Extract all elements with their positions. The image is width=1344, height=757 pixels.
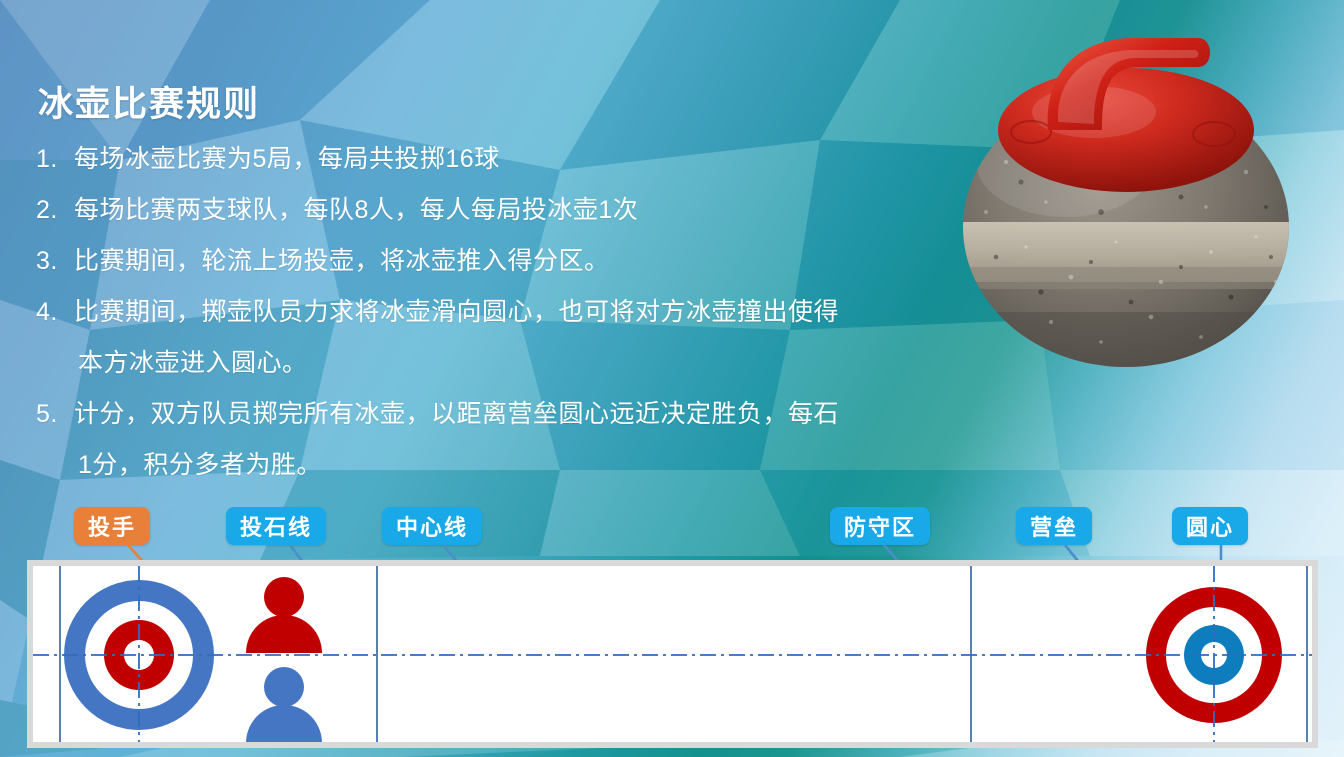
list-item-number: 1. (36, 134, 74, 185)
slide-root: 冰壶比赛规则 1. 每场冰壶比赛为5局，每局共投掷16球 2. 每场比赛两支球队… (0, 0, 1344, 757)
list-item: 3. 比赛期间，轮流上场投壶，将冰壶推入得分区。 (36, 236, 996, 287)
list-item: 4. 比赛期间，掷壶队员力求将冰壶滑向圆心，也可将对方冰壶撞出使得 本方冰壶进入… (36, 287, 996, 389)
list-item-number: 4. (36, 287, 74, 338)
callout-badge-freeguardzone[interactable]: 防守区 (830, 507, 930, 545)
list-item-text: 计分，双方队员掷完所有冰壶，以距离营垒圆心远近决定胜负，每石 1分，积分多者为胜… (74, 389, 996, 491)
curling-stone-image (926, 12, 1326, 382)
list-item-number: 2. (36, 185, 74, 236)
sheet-vertical-lines (60, 566, 1307, 742)
list-item: 5. 计分，双方队员掷完所有冰壶，以距离营垒圆心远近决定胜负，每石 1分，积分多… (36, 389, 996, 491)
list-item: 2. 每场比赛两支球队，每队8人，每人每局投冰壶1次 (36, 185, 996, 236)
list-item-line2: 1分，积分多者为胜。 (74, 440, 996, 491)
callout-badge-thrower[interactable]: 投手 (74, 507, 150, 545)
list-item-line2: 本方冰壶进入圆心。 (74, 338, 996, 389)
callout-badge-hogline[interactable]: 投石线 (226, 507, 326, 545)
callout-badge-centreline[interactable]: 中心线 (382, 507, 482, 545)
list-item-text: 每场冰壶比赛为5局，每局共投掷16球 (74, 134, 996, 185)
callout-badge-button[interactable]: 圆心 (1172, 507, 1248, 545)
curling-sheet-diagram (27, 560, 1318, 748)
list-item-number: 5. (36, 389, 74, 440)
red-player-icon (246, 577, 322, 653)
list-item-line1: 计分，双方队员掷完所有冰壶，以距离营垒圆心远近决定胜负，每石 (74, 400, 839, 428)
list-item-text: 比赛期间，轮流上场投壶，将冰壶推入得分区。 (74, 236, 996, 287)
list-item: 1. 每场冰壶比赛为5局，每局共投掷16球 (36, 134, 996, 185)
rules-list: 1. 每场冰壶比赛为5局，每局共投掷16球 2. 每场比赛两支球队，每队8人，每… (36, 134, 996, 491)
list-item-number: 3. (36, 236, 74, 287)
list-item-text: 比赛期间，掷壶队员力求将冰壶滑向圆心，也可将对方冰壶撞出使得 本方冰壶进入圆心。 (74, 287, 996, 389)
page-title: 冰壶比赛规则 (38, 76, 260, 127)
callout-badge-house[interactable]: 营垒 (1016, 507, 1092, 545)
list-item-text: 每场比赛两支球队，每队8人，每人每局投冰壶1次 (74, 185, 996, 236)
blue-player-icon (246, 667, 322, 742)
list-item-line1: 比赛期间，掷壶队员力求将冰壶滑向圆心，也可将对方冰壶撞出使得 (74, 298, 839, 326)
